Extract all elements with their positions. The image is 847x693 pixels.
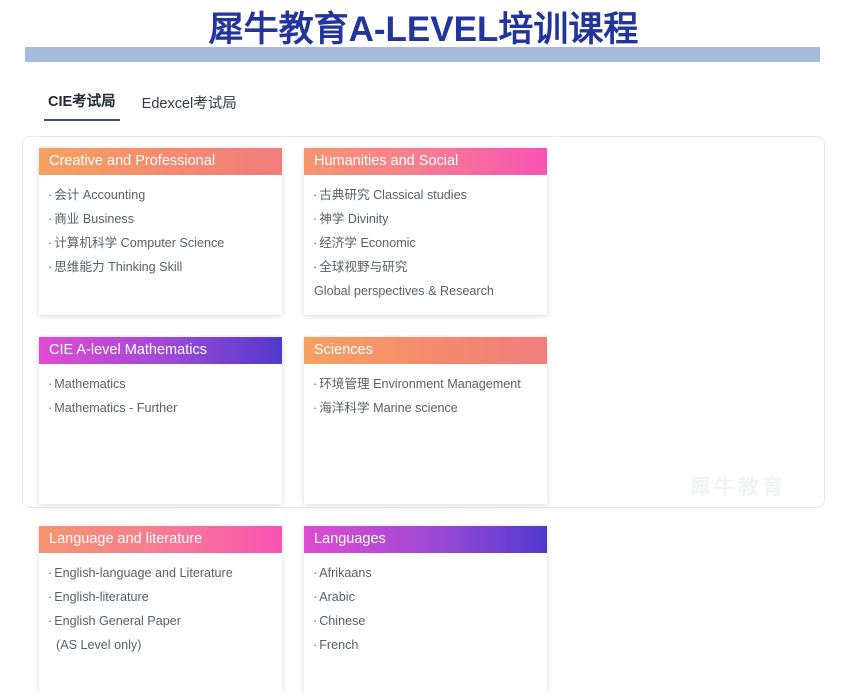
course-item: ·English General Paper <box>48 609 274 633</box>
course-item: ·神学 Divinity <box>313 207 539 231</box>
course-item: ·English-language and Literature <box>48 561 274 585</box>
bullet-icon: · <box>48 212 52 226</box>
course-item-label: Mathematics <box>54 377 125 391</box>
course-card-title: Humanities and Social <box>304 148 547 175</box>
course-item-label: English General Paper <box>54 614 181 628</box>
course-card-body: ·古典研究 Classical studies·神学 Divinity·经济学 … <box>304 175 547 303</box>
course-item: ·Chinese <box>313 609 539 633</box>
course-item: ·Arabic <box>313 585 539 609</box>
course-item-label: Chinese <box>319 614 365 628</box>
course-item-label: Mathematics - Further <box>54 401 177 415</box>
bullet-icon: · <box>48 260 52 274</box>
course-item-label: Global perspectives & Research <box>314 284 494 298</box>
tab-edexcel[interactable]: Edexcel考试局 <box>138 92 241 121</box>
course-item-label: Afrikaans <box>319 566 372 580</box>
course-item: ·思维能力 Thinking Skill <box>48 255 274 279</box>
course-card-body: ·会计 Accounting·商业 Business·计算机科学 Compute… <box>39 175 282 279</box>
course-card-body: ·Mathematics·Mathematics - Further <box>39 364 282 420</box>
course-item-label: 神学 Divinity <box>319 212 388 226</box>
course-item: ·计算机科学 Computer Science <box>48 231 274 255</box>
course-card-body: ·English-language and Literature·English… <box>39 553 282 657</box>
course-card-title: Language and literature <box>39 526 282 553</box>
course-item-label: 环境管理 Environment Management <box>319 377 521 391</box>
course-panel: Creative and Professional·会计 Accounting·… <box>22 136 825 508</box>
course-item: ·English-literature <box>48 585 274 609</box>
course-card-body: ·Afrikaans·Arabic·Chinese·French <box>304 553 547 657</box>
course-item: ·Afrikaans <box>313 561 539 585</box>
course-item: ·海洋科学 Marine science <box>313 396 539 420</box>
bullet-icon: · <box>313 236 317 250</box>
course-item-label: English-language and Literature <box>54 566 233 580</box>
bullet-icon: · <box>48 614 52 628</box>
course-item-label: 会计 Accounting <box>54 188 145 202</box>
course-item: ·商业 Business <box>48 207 274 231</box>
course-card[interactable]: Language and literature·English-language… <box>39 526 282 693</box>
course-card-title: Creative and Professional <box>39 148 282 175</box>
course-item: ·古典研究 Classical studies <box>313 183 539 207</box>
course-item-label: Arabic <box>319 590 355 604</box>
bullet-icon: · <box>313 590 317 604</box>
exam-board-tabs: CIE考试局Edexcel考试局 <box>44 90 241 121</box>
course-item: ·环境管理 Environment Management <box>313 372 539 396</box>
course-item-label: 全球视野与研究 <box>319 260 407 274</box>
bullet-icon: · <box>313 212 317 226</box>
course-card[interactable]: Creative and Professional·会计 Accounting·… <box>39 148 282 315</box>
course-card[interactable]: CIE A-level Mathematics·Mathematics·Math… <box>39 337 282 504</box>
bullet-icon: · <box>313 566 317 580</box>
bullet-icon: · <box>48 236 52 250</box>
course-item-label: English-literature <box>54 590 149 604</box>
bullet-icon: · <box>313 614 317 628</box>
course-item: ·会计 Accounting <box>48 183 274 207</box>
bullet-icon: · <box>48 401 52 415</box>
course-item-label: 海洋科学 Marine science <box>319 401 458 415</box>
course-item-label: 古典研究 Classical studies <box>319 188 467 202</box>
bullet-icon: · <box>48 590 52 604</box>
bullet-icon: · <box>313 638 317 652</box>
bullet-icon: · <box>48 188 52 202</box>
course-item: (AS Level only) <box>48 633 274 657</box>
course-card-title: CIE A-level Mathematics <box>39 337 282 364</box>
bullet-icon: · <box>313 188 317 202</box>
course-item: ·Mathematics - Further <box>48 396 274 420</box>
course-item: ·Mathematics <box>48 372 274 396</box>
course-item: Global perspectives & Research <box>313 279 539 303</box>
course-item: ·French <box>313 633 539 657</box>
course-card[interactable]: Humanities and Social·古典研究 Classical stu… <box>304 148 547 315</box>
course-item-label: French <box>319 638 358 652</box>
course-card[interactable]: Sciences·环境管理 Environment Management·海洋科… <box>304 337 547 504</box>
bullet-icon: · <box>313 401 317 415</box>
course-item: ·经济学 Economic <box>313 231 539 255</box>
course-item-label: 思维能力 Thinking Skill <box>54 260 182 274</box>
course-card-title: Languages <box>304 526 547 553</box>
course-card-body: ·环境管理 Environment Management·海洋科学 Marine… <box>304 364 547 420</box>
bullet-icon: · <box>313 260 317 274</box>
course-card-grid: Creative and Professional·会计 Accounting·… <box>39 148 811 693</box>
tab-cie[interactable]: CIE考试局 <box>44 90 120 121</box>
bullet-icon: · <box>313 377 317 391</box>
course-item: ·全球视野与研究 <box>313 255 539 279</box>
page-header: 犀牛教育A-LEVEL培训课程 <box>0 0 847 72</box>
course-item-label: 商业 Business <box>54 212 134 226</box>
bullet-icon: · <box>48 566 52 580</box>
course-card[interactable]: Languages·Afrikaans·Arabic·Chinese·Frenc… <box>304 526 547 693</box>
course-card-title: Sciences <box>304 337 547 364</box>
course-item-label: 经济学 Economic <box>319 236 416 250</box>
course-item-label: (AS Level only) <box>56 638 141 652</box>
course-item-label: 计算机科学 Computer Science <box>54 236 224 250</box>
page-title: 犀牛教育A-LEVEL培训课程 <box>0 8 847 52</box>
bullet-icon: · <box>48 377 52 391</box>
